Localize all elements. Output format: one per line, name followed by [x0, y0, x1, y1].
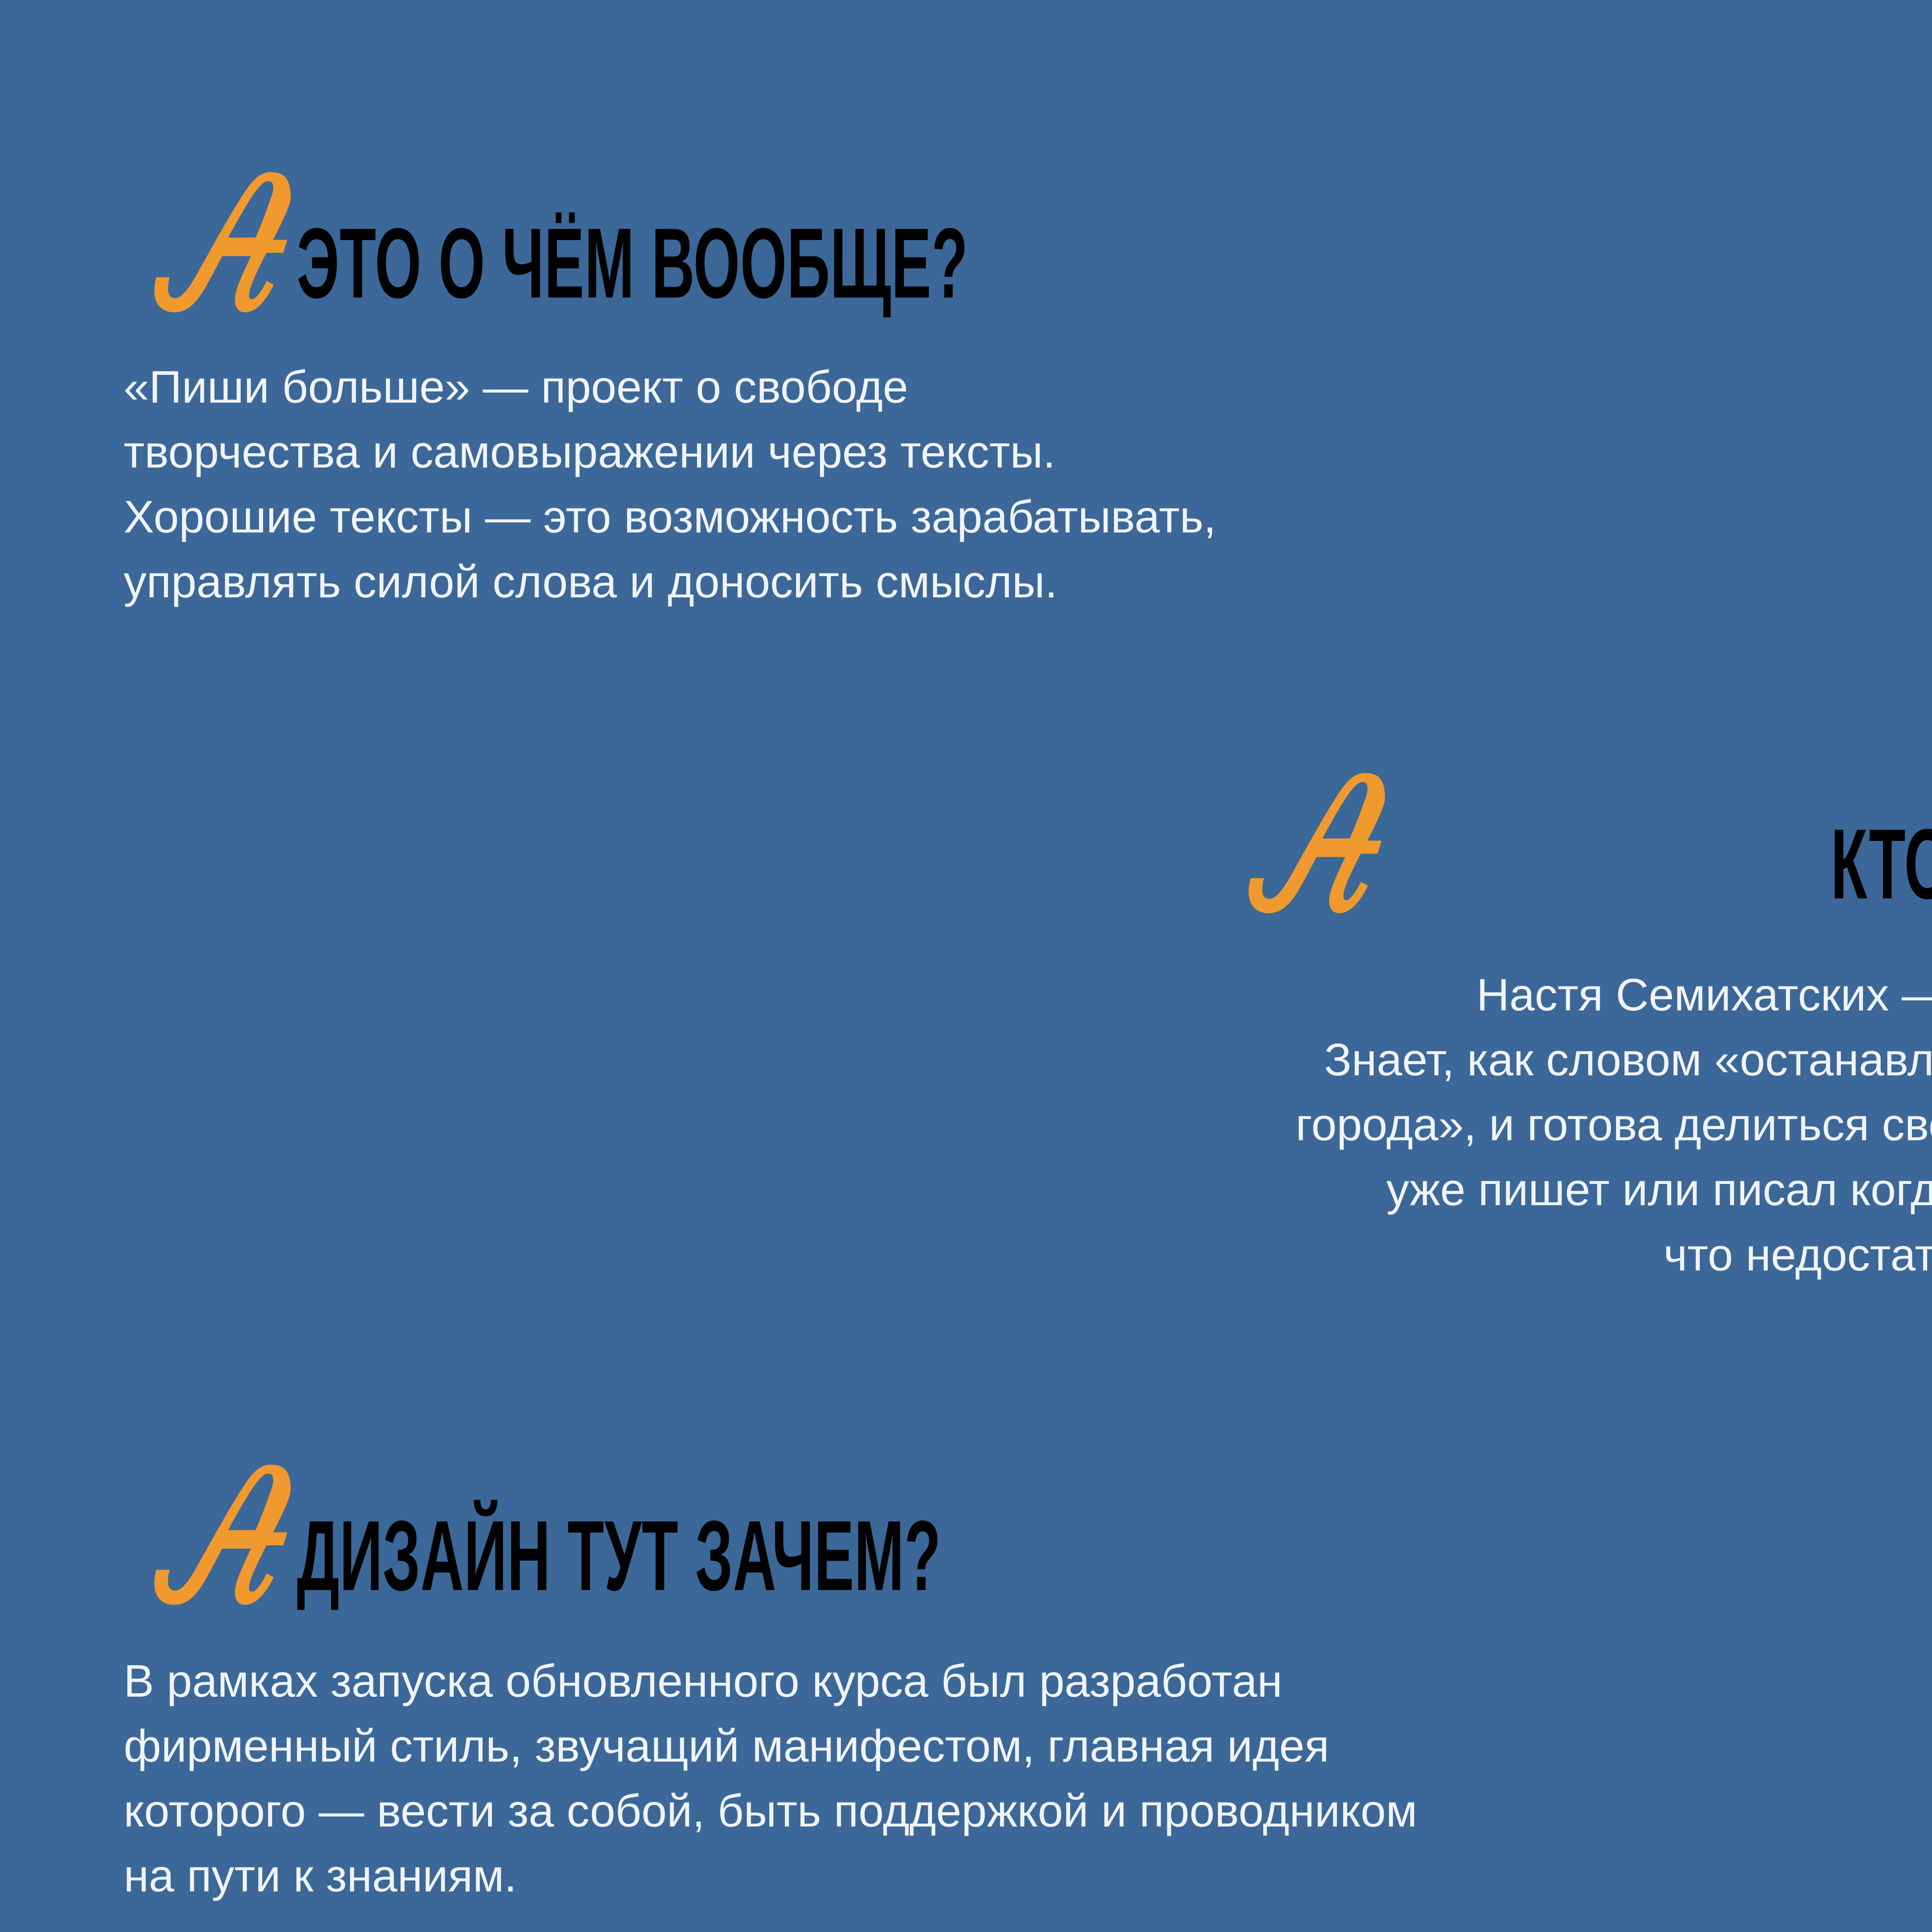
section-what-is-it: ЭТО О ЧЁМ ВООБЩЕ? «Пиши больше» — проект…	[0, 166, 1932, 660]
section-heading-what-is-it: ЭТО О ЧЁМ ВООБЩЕ?	[124, 166, 1932, 308]
section-heading-why-design: ДИЗАЙН ТУТ ЗАЧЕМ?	[124, 1459, 1932, 1600]
brand-monogram-a-icon	[1218, 767, 1400, 922]
heading-label: ДИЗАЙН ТУТ ЗАЧЕМ?	[297, 1514, 941, 1598]
heading-label: ЭТО О ЧЁМ ВООБЩЕ?	[297, 221, 968, 305]
section-body-why-design: В рамках запуска обновленного курса был …	[124, 1649, 1932, 1909]
section-body-what-is-it: «Пиши больше» — проект о свободе творчес…	[124, 355, 1824, 615]
manifesto-poster: ЭТО О ЧЁМ ВООБЩЕ? «Пиши больше» — проект…	[0, 0, 1932, 1932]
section-who-made-it: КТО ЭТО ПРИДУМАЛ? Настя Семихатских — ав…	[0, 767, 1932, 1333]
section-why-design: ДИЗАЙН ТУТ ЗАЧЕМ? В рамках запуска обнов…	[0, 1459, 1932, 1932]
heading-label: КТО ЭТО ПРИДУМАЛ?	[1831, 822, 1932, 906]
section-heading-who-made-it: КТО ЭТО ПРИДУМАЛ?	[0, 767, 1932, 908]
section-body-who-made-it: Настя Семихатских — автор проекта, редак…	[597, 963, 1932, 1287]
brand-monogram-a-icon	[124, 166, 305, 321]
brand-monogram-a-icon	[124, 1459, 305, 1613]
